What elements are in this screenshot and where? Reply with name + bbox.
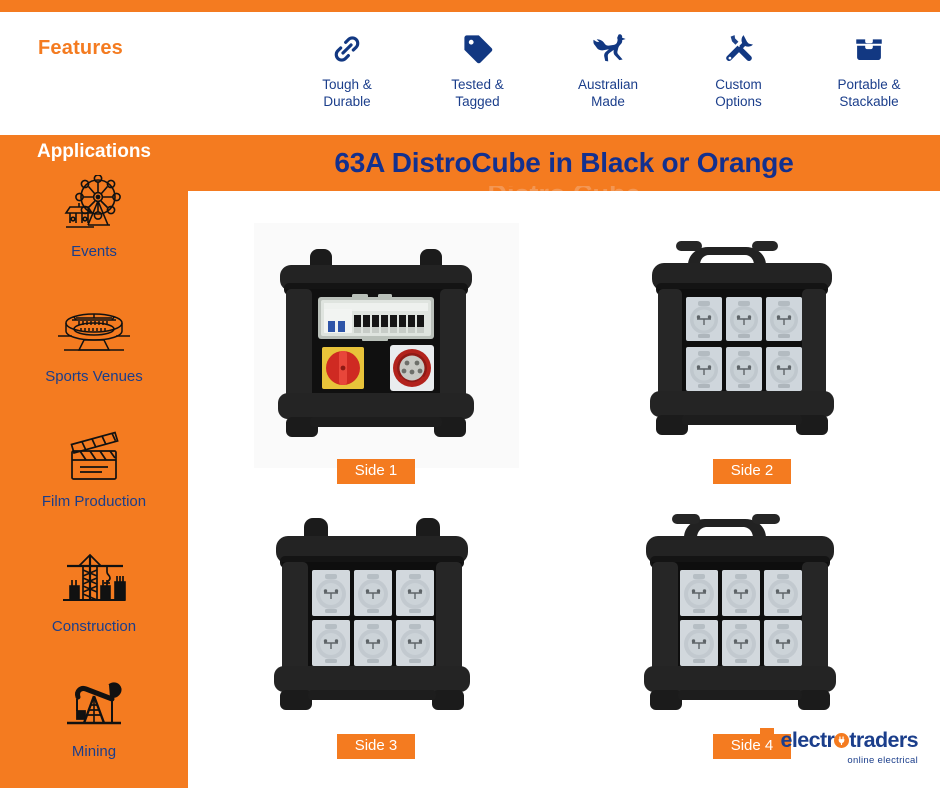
feature-australian-made: Australian Made [549,26,667,110]
sidebar-item-label: Sports Venues [45,368,143,386]
kangaroo-icon [584,26,632,72]
sidebar-item-events[interactable]: Events [0,169,188,294]
feature-tested-tagged: Tested & Tagged [419,26,537,110]
product-gallery: Side 1 [188,191,940,788]
clapperboard-icon [49,419,139,493]
chain-link-icon [323,26,371,72]
gallery-item-side-4[interactable]: Side 4 [564,484,940,759]
gallery-badge: Side 1 [337,459,416,484]
gallery-item-side-2[interactable]: Side 2 [564,191,940,484]
product-feature-page: Features Tough & Durable [0,0,940,788]
logo-wordmark: electr traders [760,730,918,752]
logo-word-second: traders [849,730,918,752]
power-socket-icon [834,733,849,748]
crate-icon [845,26,893,72]
sidebar-item-label: Construction [52,618,136,636]
sidebar-item-label: Events [71,243,117,261]
crane-icon [49,544,139,618]
applications-sidebar: Applications [0,135,188,788]
feature-label: Tested & Tagged [451,76,504,110]
stadium-icon [49,294,139,368]
brand-logo[interactable]: electr traders online electrical [760,730,918,770]
product-photo-side-2 [626,231,878,453]
gallery-badge: Side 3 [337,734,416,759]
feature-label: Portable & Stackable [837,76,900,110]
sidebar-items: Events [0,169,188,788]
sidebar-item-sports-venues[interactable]: Sports Venues [0,294,188,419]
sidebar-item-construction[interactable]: Construction [0,544,188,669]
gallery-grid: Side 1 [188,191,940,751]
feature-label: Custom Options [715,76,762,110]
sidebar-item-film-production[interactable]: Film Production [0,419,188,544]
feature-portable-stackable: Portable & Stackable [810,26,928,110]
gallery-badge: Side 2 [713,459,792,484]
product-photo-side-1 [250,231,502,453]
ferris-wheel-icon [49,169,139,243]
features-header: Features Tough & Durable [0,12,940,135]
price-tag-icon [454,26,502,72]
logo-word-first: electr [781,730,835,752]
logo-accent-block [760,728,774,737]
feature-custom-options: Custom Options [680,26,798,110]
product-photo-side-3 [250,506,502,728]
oil-pumpjack-icon [49,669,139,743]
feature-label: Tough & Durable [322,76,372,110]
sidebar-item-mining[interactable]: Mining [0,669,188,788]
sidebar-item-label: Mining [72,743,116,761]
sidebar-item-label: Film Production [42,493,146,511]
features-list: Tough & Durable Tested & Tagged Aus [288,26,928,126]
features-title: Features [38,37,123,60]
gallery-item-side-1[interactable]: Side 1 [188,191,564,484]
sidebar-title: Applications [0,141,188,163]
product-photo-side-4 [626,506,878,728]
logo-tagline: online electrical [760,755,918,766]
tools-icon [715,26,763,72]
page-title: 63A DistroCube in Black or Orange [188,135,940,191]
gallery-item-side-3[interactable]: Side 3 [188,484,564,759]
feature-label: Australian Made [578,76,638,110]
top-accent-rule [0,0,940,12]
feature-tough-durable: Tough & Durable [288,26,406,110]
